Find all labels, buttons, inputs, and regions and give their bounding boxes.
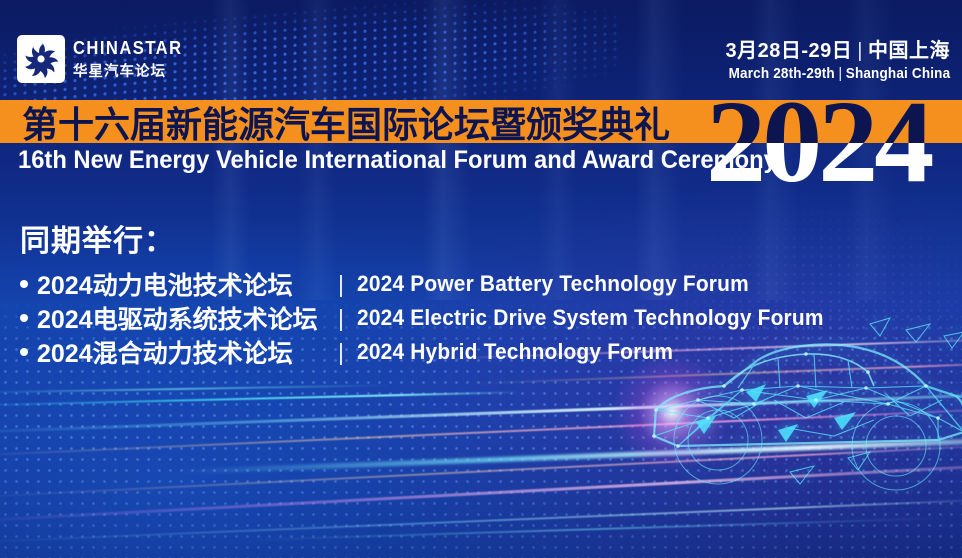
date-location-en: March 28th-29th|Shanghai China bbox=[728, 64, 950, 84]
dot-bullet-icon bbox=[20, 348, 28, 356]
forum-divider: | bbox=[325, 339, 357, 366]
date-en-separator: | bbox=[835, 65, 846, 82]
forum-divider: | bbox=[325, 305, 357, 332]
event-date-location: 3月28日-29日|中国上海 March 28th-29th|Shanghai … bbox=[704, 38, 950, 84]
brand-name-cn: 华星汽车论坛 bbox=[73, 60, 192, 81]
forum-name-cn: 2024混合动力技术论坛 bbox=[37, 334, 325, 370]
forum-name-en: 2024 Hybrid Technology Forum bbox=[357, 339, 673, 365]
list-item: 2024动力电池技术论坛 | 2024 Power Battery Techno… bbox=[20, 268, 848, 300]
date-location-cn: 3月28日-29日|中国上海 bbox=[704, 38, 950, 64]
date-en-text: March 28th-29th bbox=[728, 65, 834, 82]
event-title-cn: 第十六届新能源汽车国际论坛暨颁奖典礼 bbox=[22, 101, 670, 142]
brand-logo[interactable]: CHINASTAR 华星汽车论坛 bbox=[17, 35, 192, 83]
forum-name-en: 2024 Electric Drive System Technology Fo… bbox=[357, 305, 824, 331]
concurrent-forums-section: 同期举行： 2024动力电池技术论坛 | 2024 Power Battery … bbox=[20, 216, 848, 370]
list-item: 2024电驱动系统技术论坛 | 2024 Electric Drive Syst… bbox=[20, 302, 848, 334]
forum-name-en: 2024 Power Battery Technology Forum bbox=[357, 271, 749, 297]
location-cn-text: 中国上海 bbox=[868, 40, 950, 62]
forum-name-cn: 2024动力电池技术论坛 bbox=[37, 266, 325, 302]
chinastar-star-logo-icon bbox=[17, 35, 65, 83]
banner-header: CHINASTAR 华星汽车论坛 3月28日-29日|中国上海 March 28… bbox=[0, 0, 962, 100]
date-cn-text: 3月28日-29日 bbox=[726, 40, 853, 62]
brand-name-en: CHINASTAR bbox=[73, 38, 183, 59]
dot-bullet-icon bbox=[20, 314, 28, 322]
brand-logo-text: CHINASTAR 华星汽车论坛 bbox=[73, 38, 192, 81]
forum-name-cn: 2024电驱动系统技术论坛 bbox=[37, 300, 325, 336]
dot-bullet-icon bbox=[20, 280, 28, 288]
date-cn-separator: | bbox=[852, 40, 868, 62]
location-en-text: Shanghai China bbox=[845, 65, 950, 82]
forum-divider: | bbox=[325, 271, 357, 298]
list-item: 2024混合动力技术论坛 | 2024 Hybrid Technology Fo… bbox=[20, 336, 848, 368]
concurrent-forums-heading: 同期举行： bbox=[20, 216, 848, 260]
event-title-en: 16th New Energy Vehicle International Fo… bbox=[18, 146, 777, 175]
event-banner: CHINASTAR 华星汽车论坛 3月28日-29日|中国上海 March 28… bbox=[0, 0, 962, 558]
